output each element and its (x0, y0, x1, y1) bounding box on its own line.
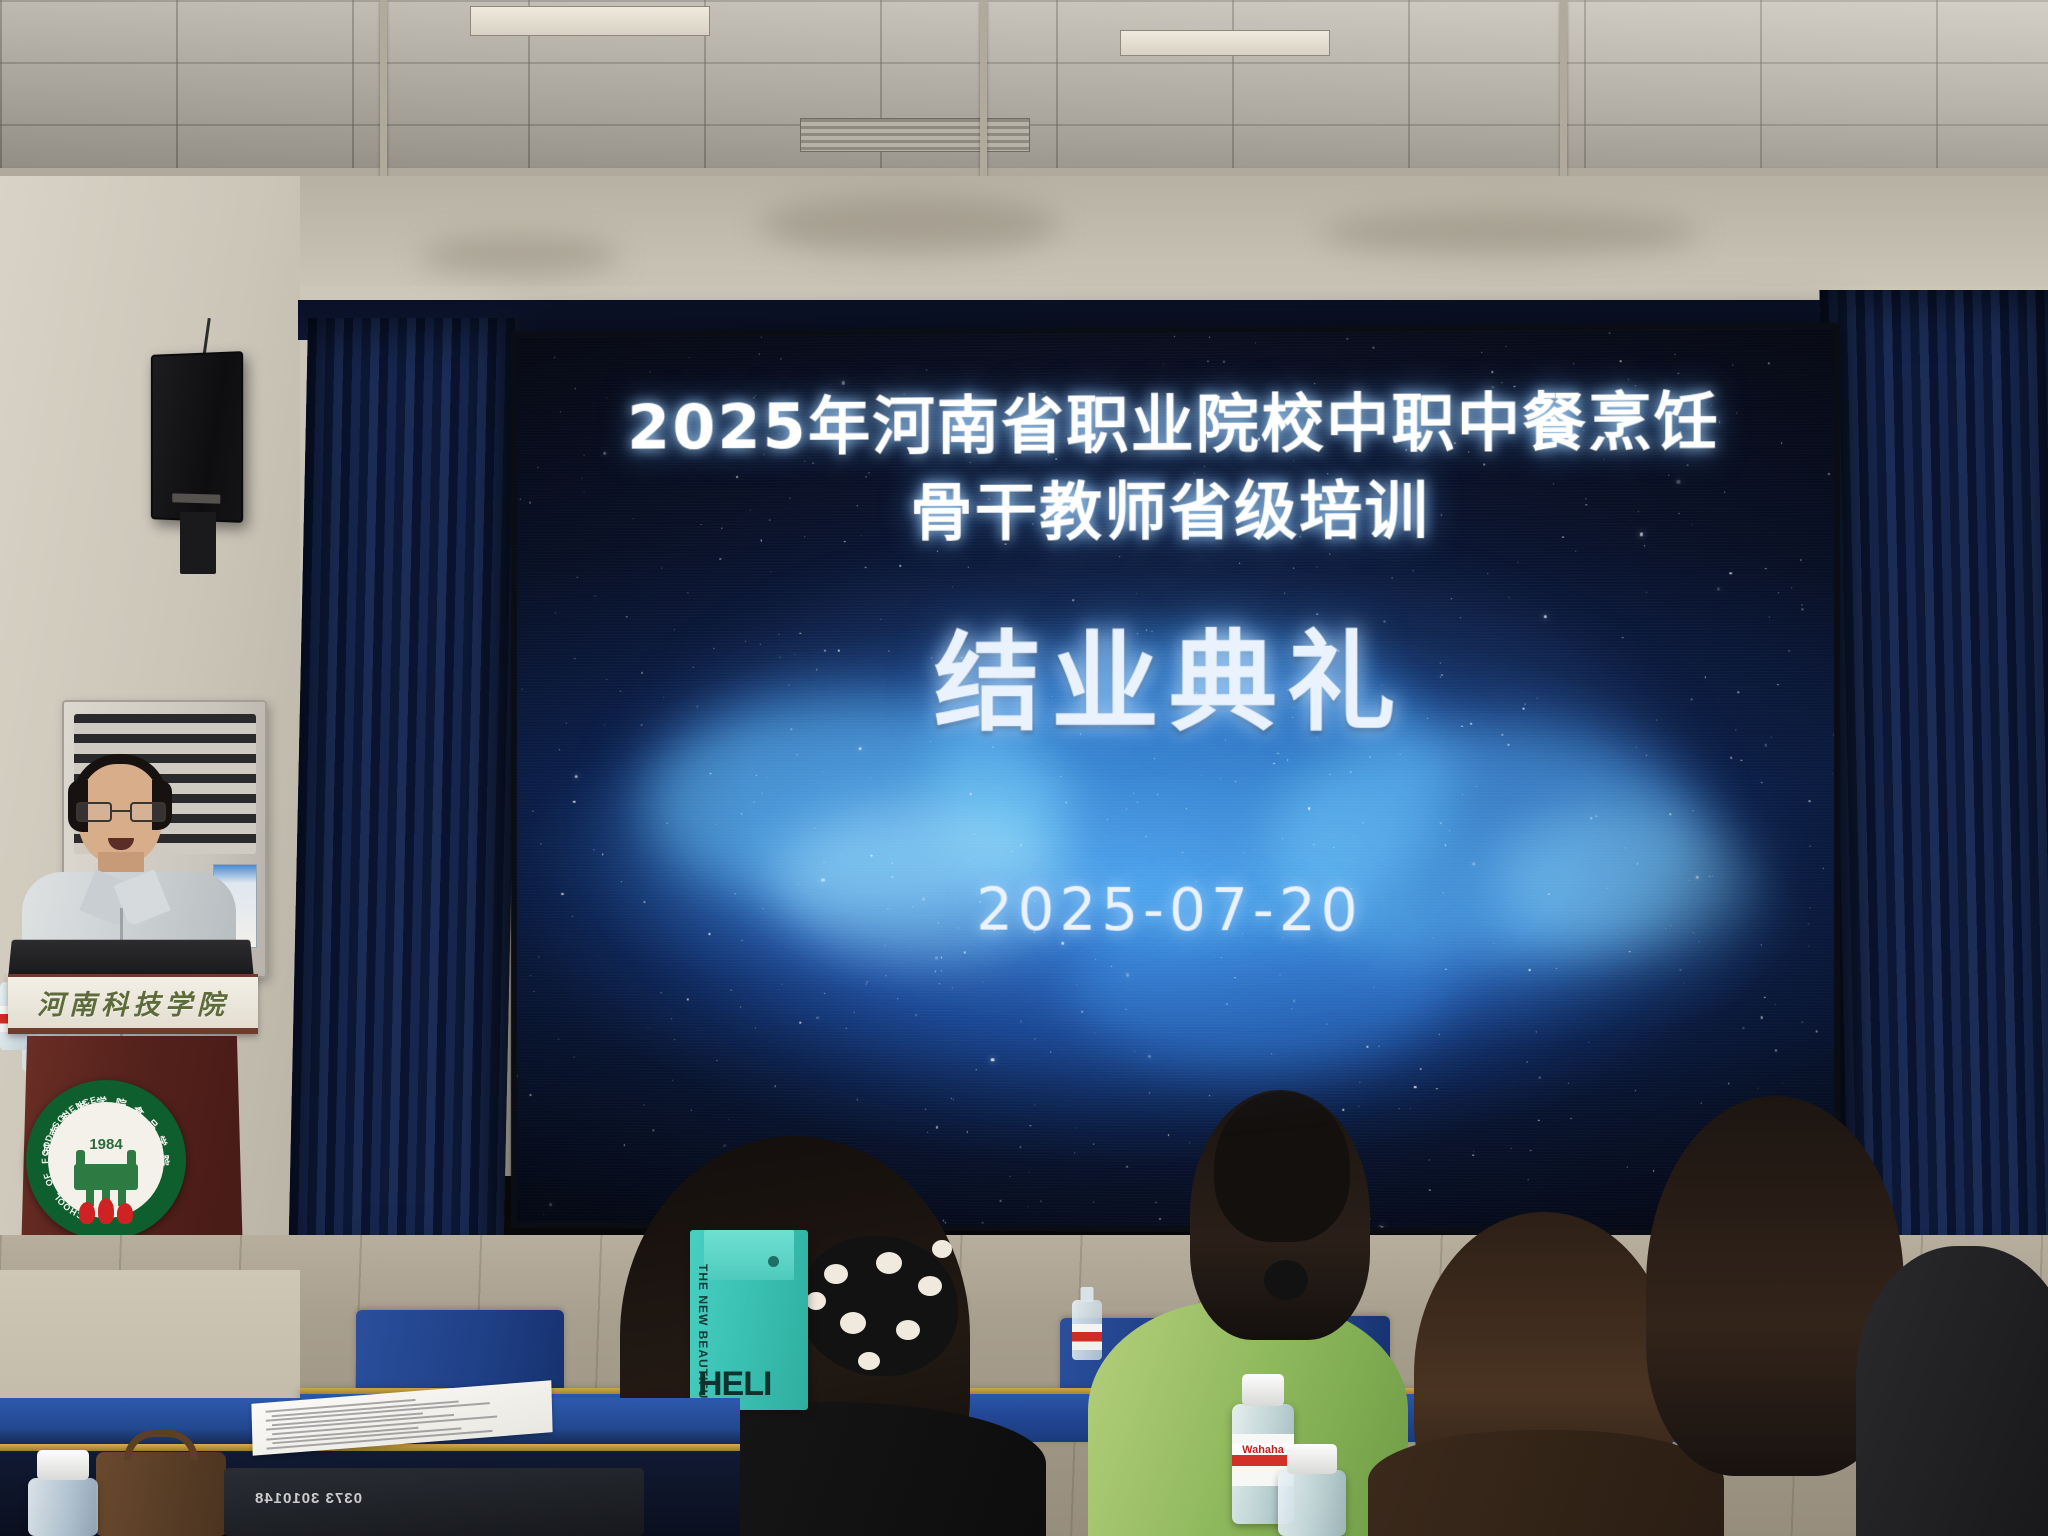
presenter-glasses (76, 802, 166, 822)
scrunchie-dot-7 (932, 1240, 952, 1258)
slide-headline: 结业典礼 (934, 596, 1406, 753)
audience-person-2-ponytail-tie (1264, 1260, 1308, 1300)
bottle-cap (1242, 1374, 1284, 1406)
ceiling-shading (0, 0, 2048, 182)
gift-bag: THE NEW BEAUTIFUL HELI (690, 1230, 808, 1410)
desk-water-bottle-back (1072, 1300, 1102, 1360)
emblem-inner-disc: 1984 (48, 1102, 164, 1218)
bottle-brand-text: Wahaha (1232, 1444, 1294, 1456)
led-screen: 2025年河南省职业院校中职中餐烹饪 骨干教师省级培训 结业典礼 2025-07… (511, 323, 1840, 1237)
ceiling-vent-1 (800, 118, 1030, 152)
photo-scene: 2025年河南省职业院校中职中餐烹饪 骨干教师省级培训 结业典礼 2025-07… (0, 0, 2048, 1536)
slide-date: 2025-07-20 (976, 876, 1363, 945)
ceiling (0, 0, 2048, 182)
gift-bag-snap (768, 1256, 779, 1267)
stage-curtain-left (288, 318, 523, 1278)
wall-loudspeaker (151, 351, 243, 523)
speaker-brand-badge (172, 493, 220, 503)
bottle-neck (1081, 1287, 1094, 1302)
school-emblem: SCHOOL OF FOOD SCIENCE河南科技学院食品学院 1984 (26, 1080, 186, 1240)
wall-stain-1 (760, 196, 1060, 254)
emblem-year: 1984 (89, 1136, 122, 1153)
speaker-mount-bracket (180, 512, 216, 574)
led-screen-surface: 2025年河南省职业院校中职中餐烹饪 骨干教师省级培训 结业典礼 2025-07… (517, 329, 1834, 1231)
audience-person-3-shoulders (1368, 1430, 1724, 1536)
handbag (96, 1452, 226, 1536)
audience-person-4-shoulders (1856, 1246, 2048, 1536)
scrunchie-dot-8 (858, 1352, 880, 1370)
laptop-lid: 0373 3010148 (224, 1468, 644, 1536)
scrunchie-dot-4 (840, 1312, 866, 1334)
ceiling-beam-3 (980, 0, 987, 176)
ceiling-light-panel-2 (1120, 30, 1330, 56)
flame-part-1 (79, 1202, 95, 1224)
ceiling-beam-4 (1560, 0, 1567, 176)
water-bottle-front (1278, 1470, 1346, 1536)
laptop-sticker-text: 0373 3010148 (254, 1490, 362, 1507)
audience-person-2-head (1214, 1092, 1350, 1242)
wall-stain-3 (420, 236, 620, 276)
wall-stain-2 (1320, 210, 1700, 256)
scrunchie-dot-2 (876, 1252, 902, 1274)
lectern-nameplate: 河南科技学院 (8, 974, 258, 1034)
water-bottle-left-corner (28, 1478, 98, 1536)
ceiling-light-panel-1 (470, 6, 710, 36)
bottle-cap (37, 1450, 89, 1480)
glasses-bridge (112, 810, 130, 812)
scrunchie-dot-6 (806, 1292, 826, 1310)
ding-bowl (74, 1164, 138, 1190)
ceiling-beam-2 (380, 0, 387, 176)
flame-part-3 (117, 1203, 133, 1224)
lectern-nameplate-text: 河南科技学院 (37, 983, 229, 1022)
bottle-label (1072, 1324, 1102, 1350)
scrunchie-dot-5 (896, 1320, 920, 1340)
bottle-cap (1287, 1444, 1337, 1474)
flame-icon (77, 1198, 135, 1224)
slide-title-line-1: 2025年河南省职业院校中职中餐烹饪 (627, 382, 1720, 468)
glasses-lens-right (130, 802, 166, 822)
slide-content: 2025年河南省职业院校中职中餐烹饪 骨干教师省级培训 结业典礼 2025-07… (517, 329, 1834, 1231)
glasses-lens-left (76, 802, 112, 822)
gift-bag-flap (704, 1230, 794, 1280)
flame-part-2 (98, 1198, 114, 1224)
scrunchie-dot-3 (918, 1276, 942, 1296)
scrunchie-dot-1 (824, 1264, 848, 1284)
lectern-top-surface (8, 940, 254, 977)
slide-title-line-2: 骨干教师省级培训 (910, 470, 1430, 553)
